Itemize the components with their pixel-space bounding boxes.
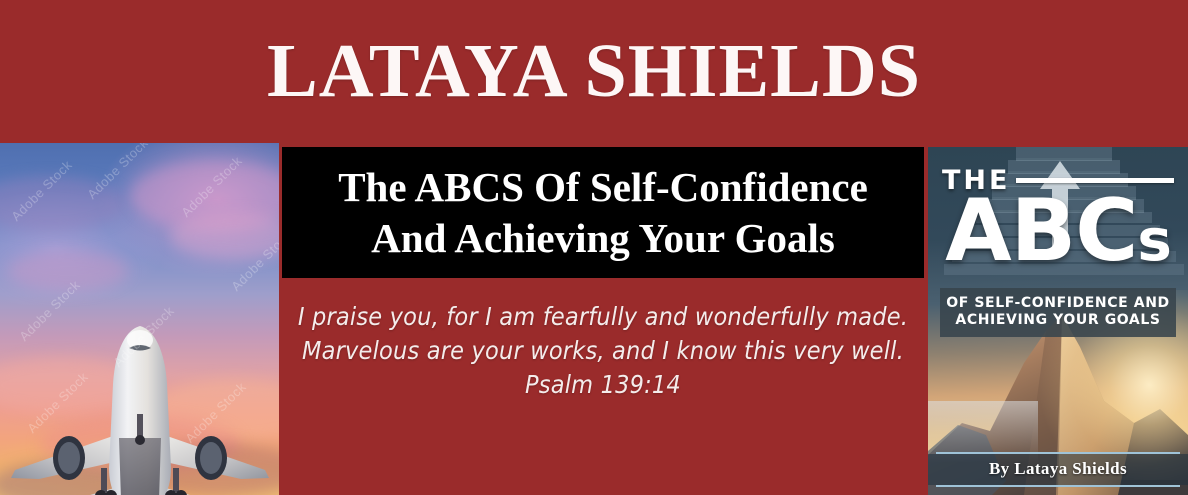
cover-abcs-small: s (1137, 206, 1171, 274)
cover-subtitle-bar: OF SELF-CONFIDENCE AND ACHIEVING YOUR GO… (940, 288, 1176, 337)
scripture-reference: Psalm 139:14 (282, 368, 924, 402)
book-title-line-2: And Achieving Your Goals (371, 213, 835, 263)
cover-author-credit: By Lataya Shields (928, 454, 1188, 485)
cover-subtitle-line-2: ACHIEVING YOUR GOALS (944, 312, 1172, 329)
cover-abcs-title: ABCs (928, 191, 1188, 273)
promo-banner: LATAYA SHIELDS (0, 0, 1188, 495)
cover-subtitle-line-1: OF SELF-CONFIDENCE AND (944, 295, 1172, 312)
cloud-shape (8, 251, 128, 291)
header-band: LATAYA SHIELDS (0, 0, 1188, 140)
book-title-box: The ABCS Of Self-Confidence And Achievin… (282, 147, 924, 278)
cover-author-rule-bottom (936, 485, 1180, 487)
scripture-line-2: Marvelous are your works, and I know thi… (282, 334, 924, 368)
airplane-photo: Adobe Stock Adobe Stock Adobe Stock Adob… (0, 143, 279, 495)
scripture-line-1: I praise you, for I am fearfully and won… (282, 300, 924, 334)
cover-author-section: By Lataya Shields (928, 452, 1188, 487)
airplane-icon (9, 318, 271, 495)
scripture-quote: I praise you, for I am fearfully and won… (282, 300, 924, 402)
author-name-heading: LATAYA SHIELDS (267, 33, 921, 109)
book-cover-image: THE ABCs OF SELF-CONFIDENCE AND ACHIEVIN… (928, 147, 1188, 495)
book-title-line-1: The ABCS Of Self-Confidence (338, 162, 868, 212)
cover-abcs-main: ABC (945, 181, 1137, 281)
